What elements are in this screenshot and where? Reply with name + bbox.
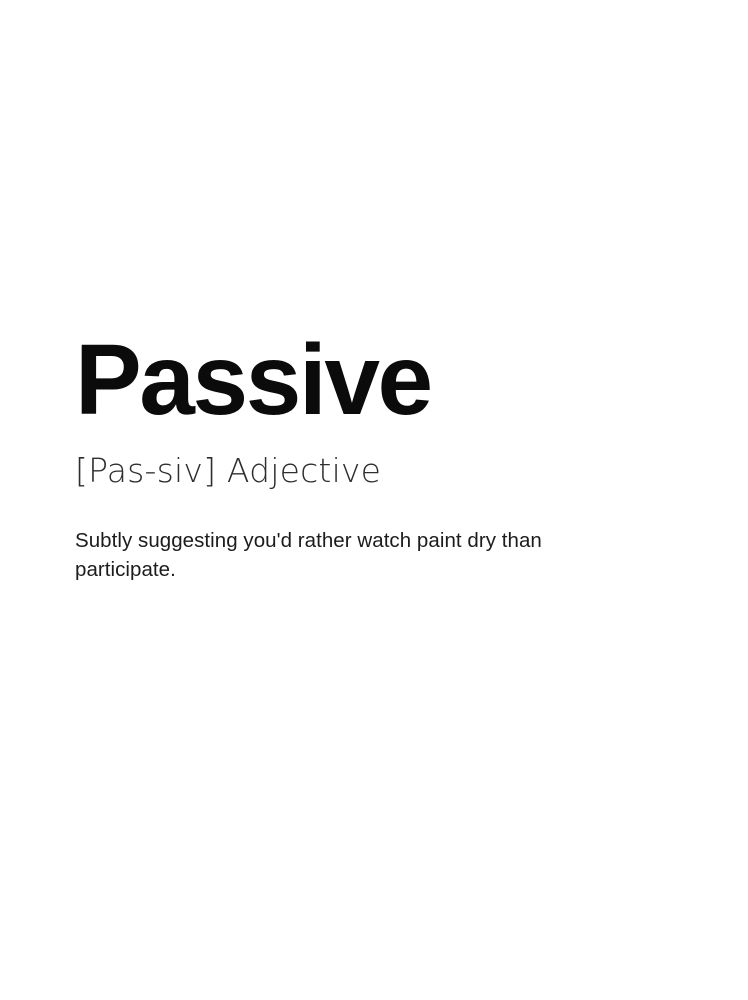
definition-description: Subtly suggesting you'd rather watch pai… (75, 526, 610, 584)
definition-block: Passive [Pas-siv] Adjective Subtly sugge… (75, 330, 675, 584)
definition-card-canvas: Passive [Pas-siv] Adjective Subtly sugge… (0, 0, 748, 1000)
pronunciation-row: [Pas-siv] Adjective (75, 453, 675, 490)
page-title: Passive (75, 330, 675, 430)
pronunciation-and-part-of-speech: [Pas-siv] Adjective (75, 451, 381, 490)
